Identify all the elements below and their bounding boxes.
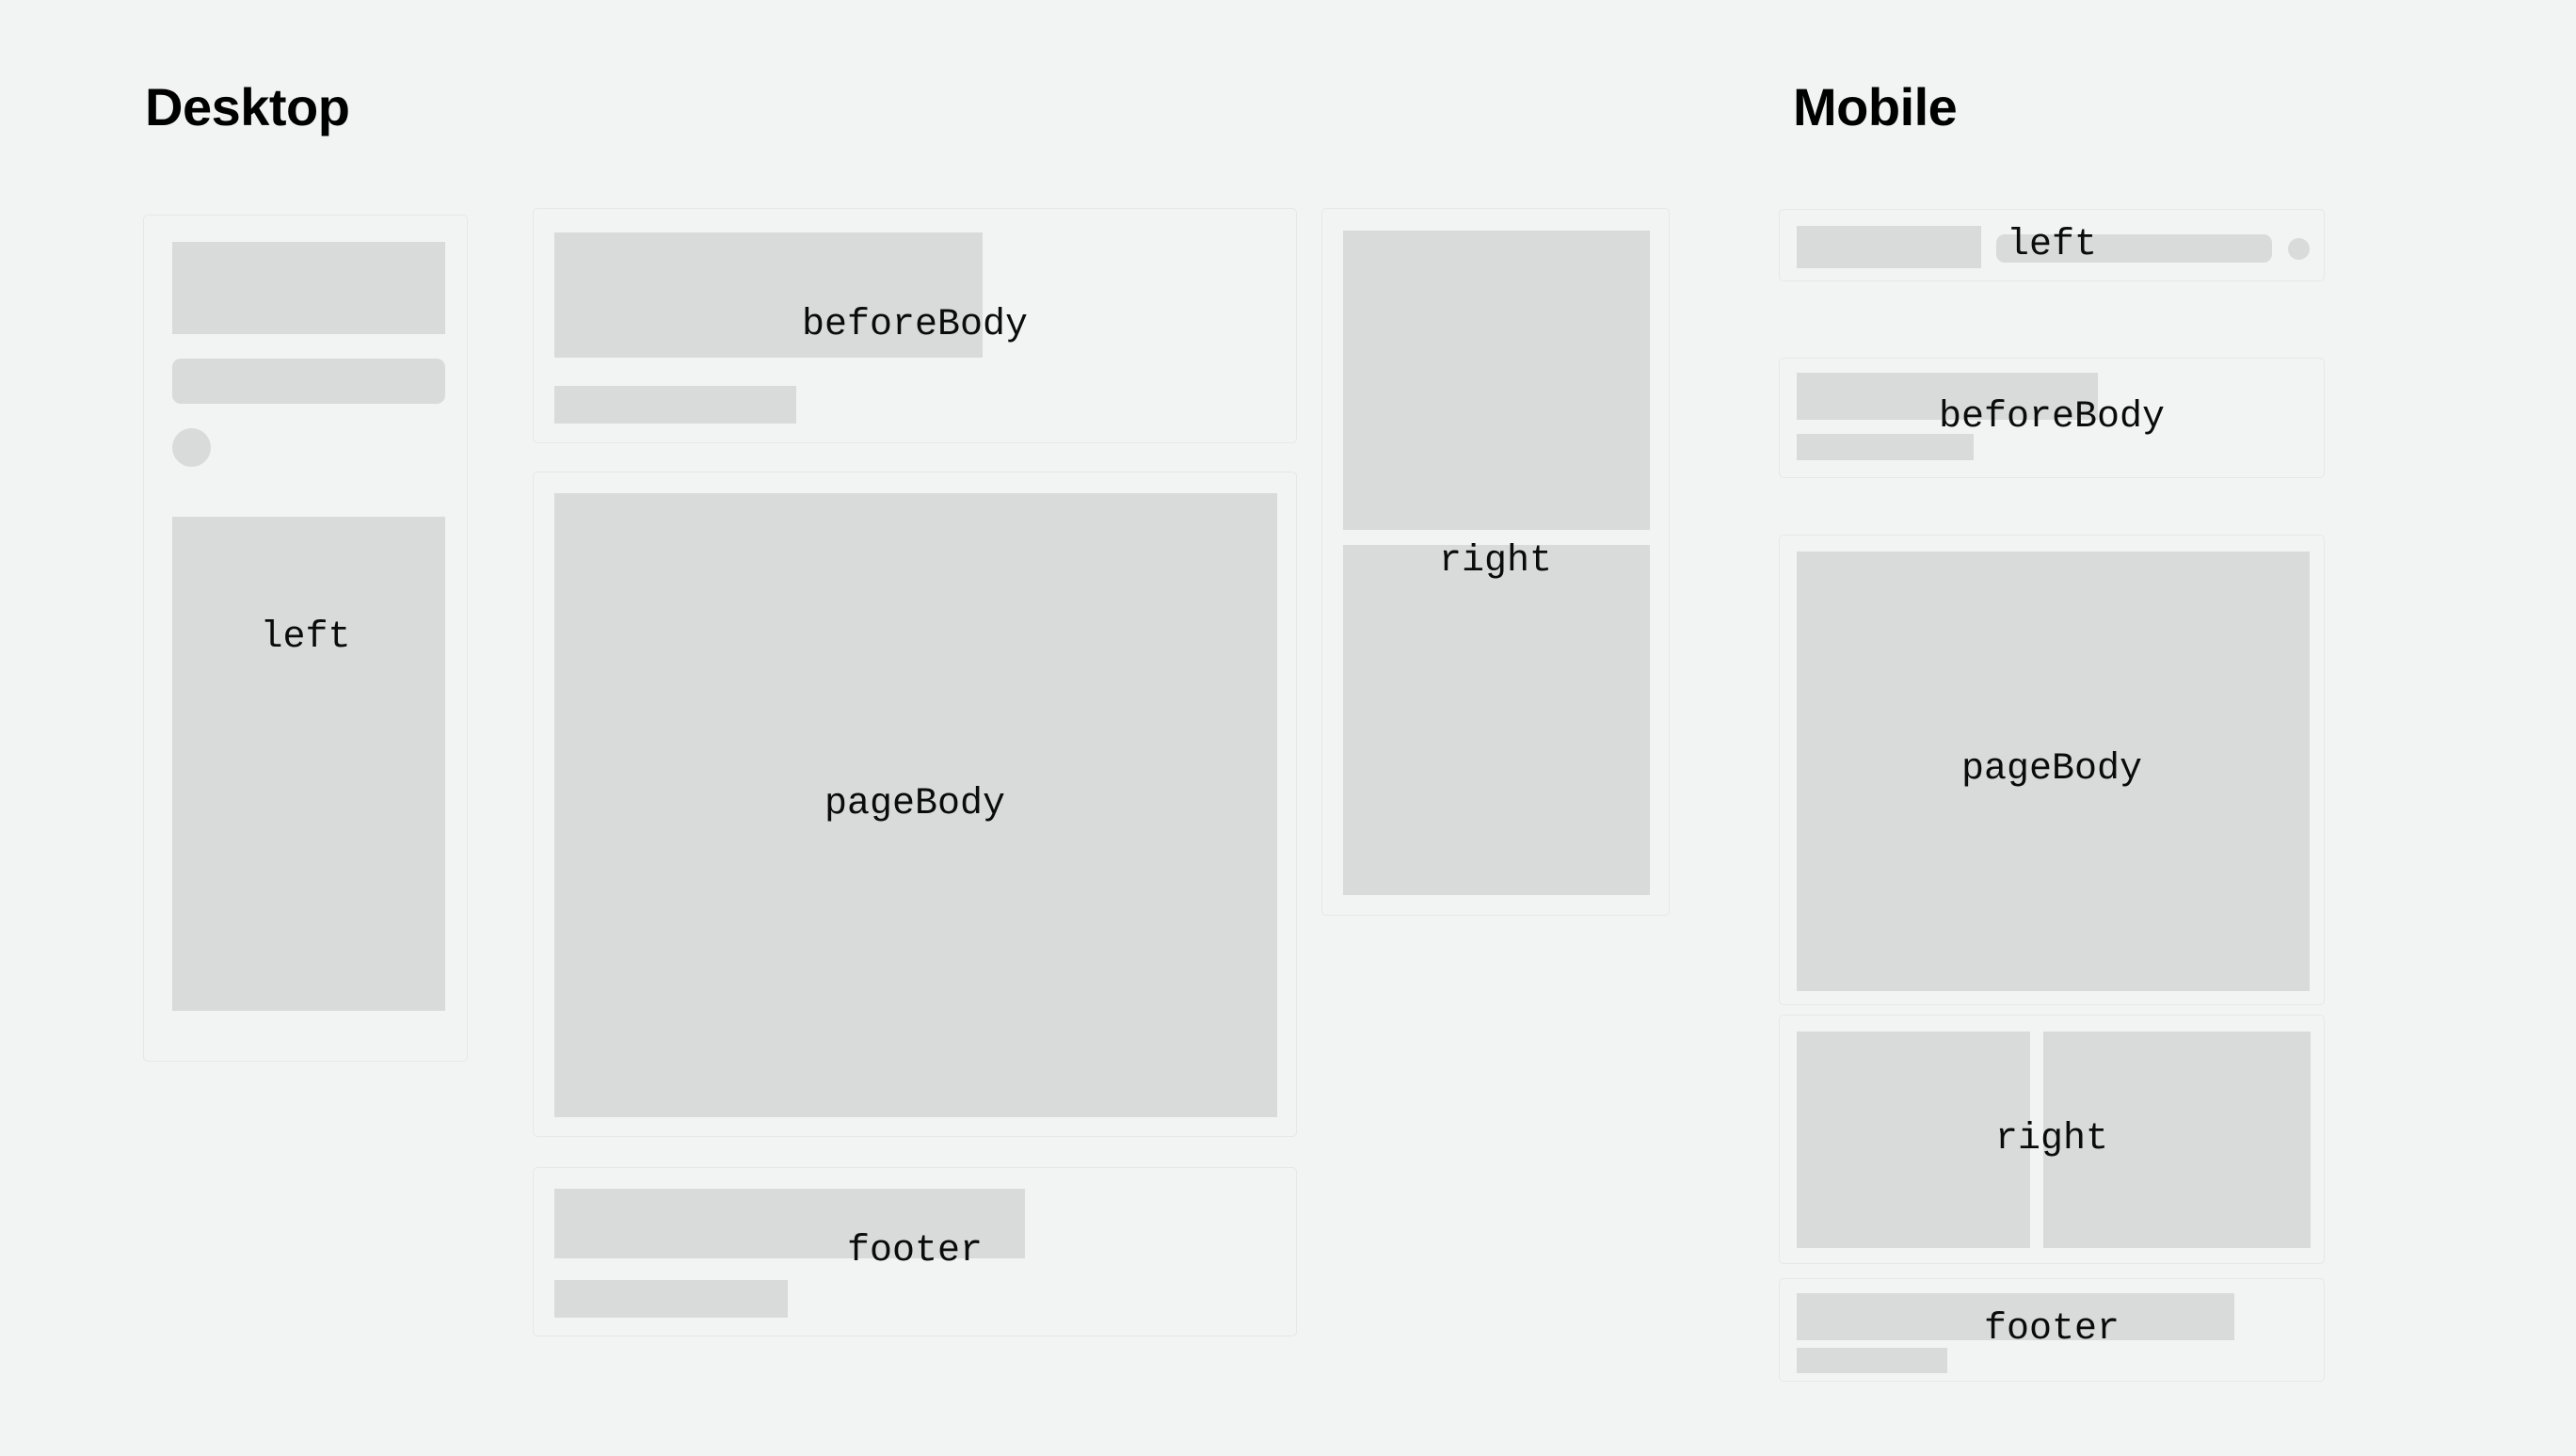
skeleton-bar: [1797, 1348, 1947, 1373]
skeleton-bar: [554, 1280, 788, 1318]
skeleton-block: [1343, 231, 1650, 530]
skeleton-bar: [1797, 434, 1974, 460]
mobile-section-title: Mobile: [1793, 81, 1957, 134]
skeleton-bar: [554, 1189, 1025, 1258]
skeleton-bar: [1797, 1293, 2234, 1340]
skeleton-bar: [554, 386, 796, 424]
desktop-region-right[interactable]: right: [1321, 208, 1670, 916]
skeleton-block: [1797, 552, 2310, 991]
desktop-region-pagebody[interactable]: pageBody: [533, 472, 1297, 1137]
skeleton-block: [1797, 373, 2098, 420]
skeleton-block: [2043, 1032, 2311, 1248]
mobile-region-left[interactable]: left: [1779, 209, 2325, 281]
skeleton-bar: [172, 359, 445, 404]
skeleton-block: [1797, 1032, 2030, 1248]
desktop-section-title: Desktop: [145, 81, 349, 134]
skeleton-block: [172, 517, 445, 1011]
skeleton-block: [1797, 226, 1981, 268]
mobile-region-footer[interactable]: footer: [1779, 1278, 2325, 1382]
skeleton-avatar-circle: [172, 428, 211, 467]
mobile-region-right[interactable]: right: [1779, 1015, 2325, 1264]
skeleton-block: [554, 493, 1277, 1117]
desktop-region-footer[interactable]: footer: [533, 1167, 1297, 1336]
mobile-region-beforebody[interactable]: beforeBody: [1779, 358, 2325, 478]
skeleton-block: [172, 242, 445, 334]
desktop-region-left[interactable]: left: [143, 215, 468, 1062]
skeleton-avatar-circle: [2288, 238, 2310, 260]
skeleton-block: [554, 232, 983, 358]
skeleton-block: [1343, 545, 1650, 895]
desktop-region-beforebody[interactable]: beforeBody: [533, 208, 1297, 443]
skeleton-bar: [1996, 234, 2272, 263]
mobile-region-pagebody[interactable]: pageBody: [1779, 535, 2325, 1005]
responsive-layout-preview: Desktop left beforeBody pageBody right f…: [0, 0, 2576, 1456]
